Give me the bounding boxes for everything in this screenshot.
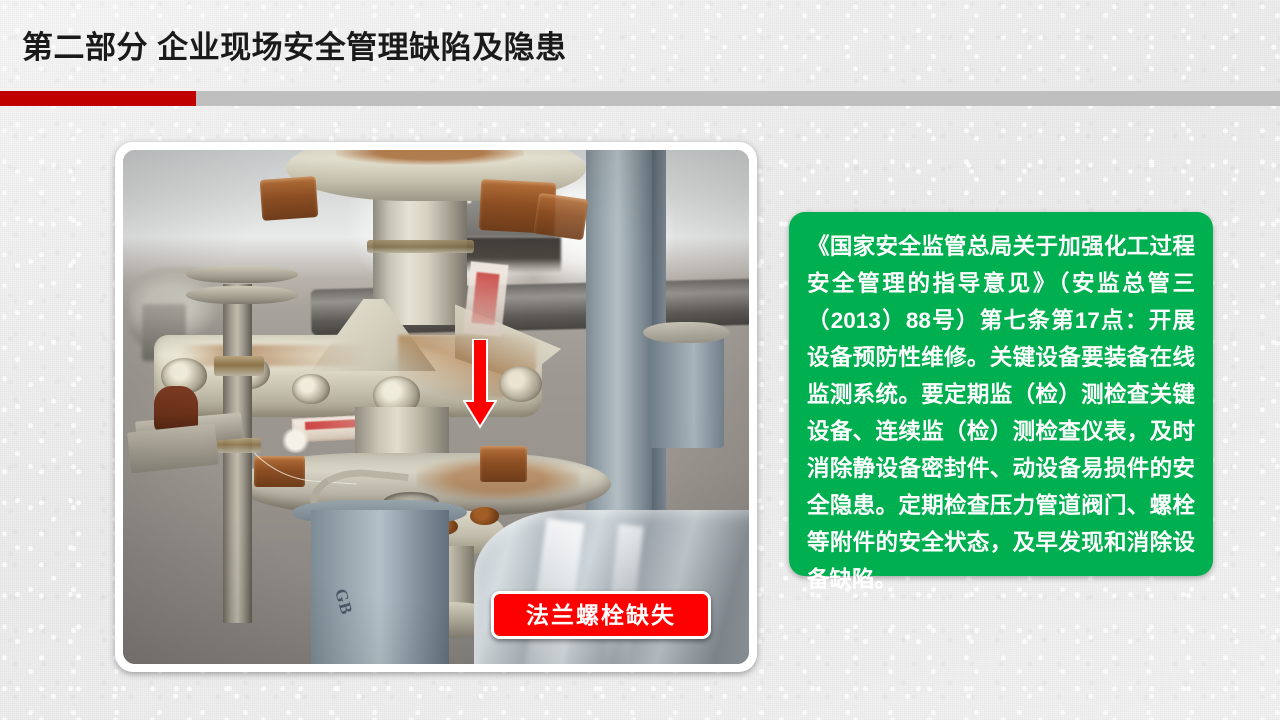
photo-flange-bolt-2 (480, 446, 527, 482)
photo-pipe-coupling-1 (214, 356, 264, 377)
photo-card: GB 法兰螺栓缺失 (115, 142, 757, 672)
photo-left-vertical-pipe (223, 284, 252, 623)
regulation-text: 《国家安全监管总局关于加强化工过程安全管理的指导意见》（安监总管三（2013）8… (807, 228, 1195, 598)
photo-yoke-bolt-e (499, 366, 543, 402)
photo-right-valve-bolt-3 (470, 507, 498, 524)
photo-side-cylinder (649, 335, 724, 448)
photo-rusty-nut-right-2 (534, 193, 589, 241)
regulation-callout-box: 《国家安全监管总局关于加强化工过程安全管理的指导意见》（安监总管三（2013）8… (789, 212, 1213, 576)
photo-side-cylinder-cap (643, 322, 731, 343)
photo-wire-knot (280, 428, 311, 454)
header-rule-red (0, 91, 196, 106)
slide-canvas: 第二部分 企业现场安全管理缺陷及隐患 (0, 0, 1280, 720)
photo-caption-text: 法兰螺栓缺失 (526, 604, 676, 627)
photo-pipe-coupling-2 (217, 438, 261, 453)
photo-left-flange-1 (186, 266, 299, 283)
page-title: 第二部分 企业现场安全管理缺陷及隐患 (22, 26, 567, 70)
photo-bonnet-rust (336, 150, 524, 165)
photo-caption-label: 法兰螺栓缺失 (491, 591, 711, 639)
photo-equipment-tag-2-stripe (471, 272, 499, 325)
photo-valve-stem-ring (367, 240, 473, 253)
photo-left-flange-2 (186, 286, 299, 303)
site-photo: GB 法兰螺栓缺失 (123, 150, 749, 664)
photo-vessel-body (311, 510, 449, 664)
photo-rusty-nut-left (259, 176, 318, 221)
annotation-arrow-icon (463, 339, 497, 429)
photo-branch-support (127, 423, 218, 473)
